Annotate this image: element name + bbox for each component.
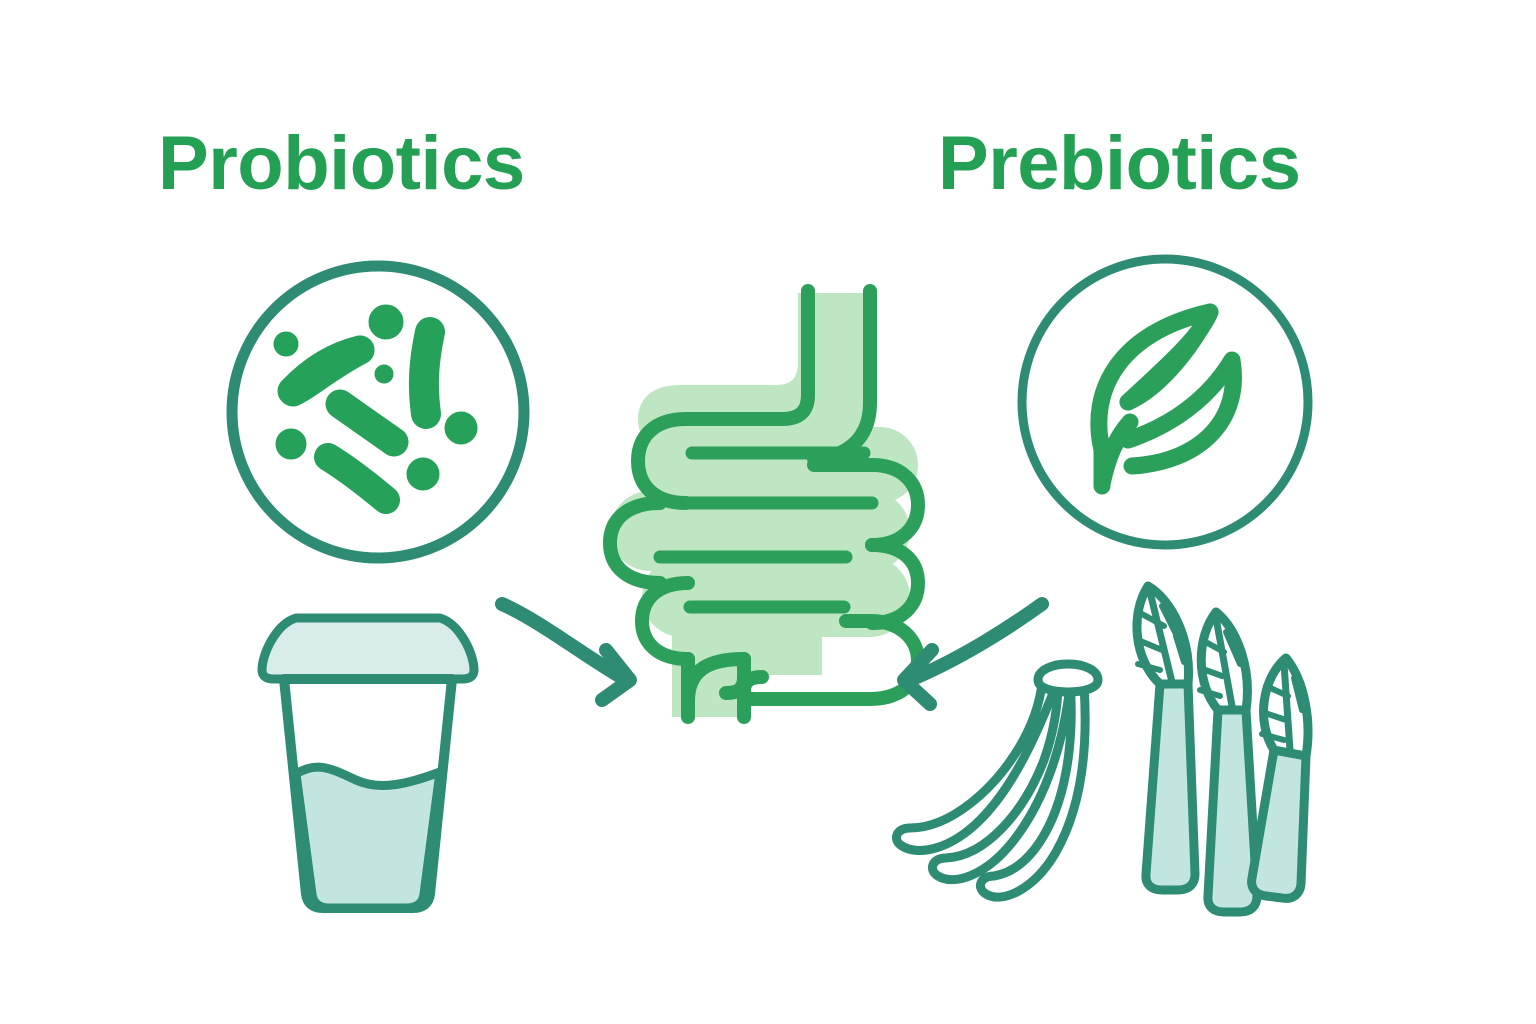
asparagus-icon: [1120, 578, 1325, 923]
diagram-canvas: Probiotics Prebiotics: [0, 0, 1536, 1024]
leaf-icon: [1010, 250, 1320, 560]
page-title-prebiotics: Prebiotics: [938, 126, 1300, 202]
yogurt-cup-icon: [248, 608, 488, 913]
arrow-left-icon: [880, 588, 1065, 723]
page-title-probiotics: Probiotics: [158, 126, 525, 202]
bacteria-petri-dish-icon: [218, 252, 538, 572]
arrow-right-icon: [480, 580, 655, 720]
